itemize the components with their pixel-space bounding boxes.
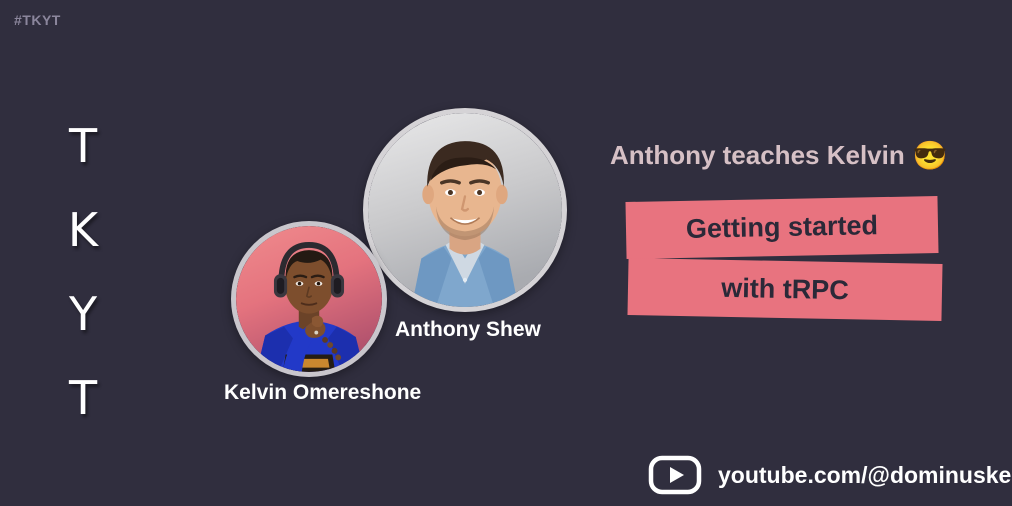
headline-text: Anthony teaches Kelvin <box>610 140 905 171</box>
person-name-anthony: Anthony Shew <box>395 318 541 342</box>
footer: youtube.com/@dominuskelvin <box>648 455 1012 495</box>
title-banner-2: with tRPC <box>627 258 942 321</box>
hashtag-label: #TKYT <box>14 12 61 28</box>
avatar-kelvin-omereshone <box>231 221 387 377</box>
video-thumbnail: #TKYT T K Y T <box>0 0 1012 506</box>
title-banner-2-text: with tRPC <box>721 273 849 306</box>
avatar-anthony-shew <box>363 108 567 312</box>
vertical-brand-tkyt: T K Y T <box>60 104 106 440</box>
avatar-kelvin-photo <box>236 226 382 372</box>
person-name-kelvin: Kelvin Omereshone <box>224 381 421 405</box>
title-banner-1: Getting started <box>625 196 938 259</box>
title-banner-1-text: Getting started <box>686 210 879 245</box>
brand-letter-2: K <box>68 188 98 272</box>
brand-letter-1: T <box>69 104 97 188</box>
brand-letter-4: T <box>69 356 97 440</box>
headline: Anthony teaches Kelvin 😎 <box>610 140 948 171</box>
smiling-face-with-sunglasses-icon: 😎 <box>913 142 948 170</box>
brand-letter-3: Y <box>69 272 97 356</box>
youtube-icon <box>648 455 702 495</box>
avatar-anthony-photo <box>368 113 562 307</box>
footer-channel-url: youtube.com/@dominuskelvin <box>718 462 1012 489</box>
